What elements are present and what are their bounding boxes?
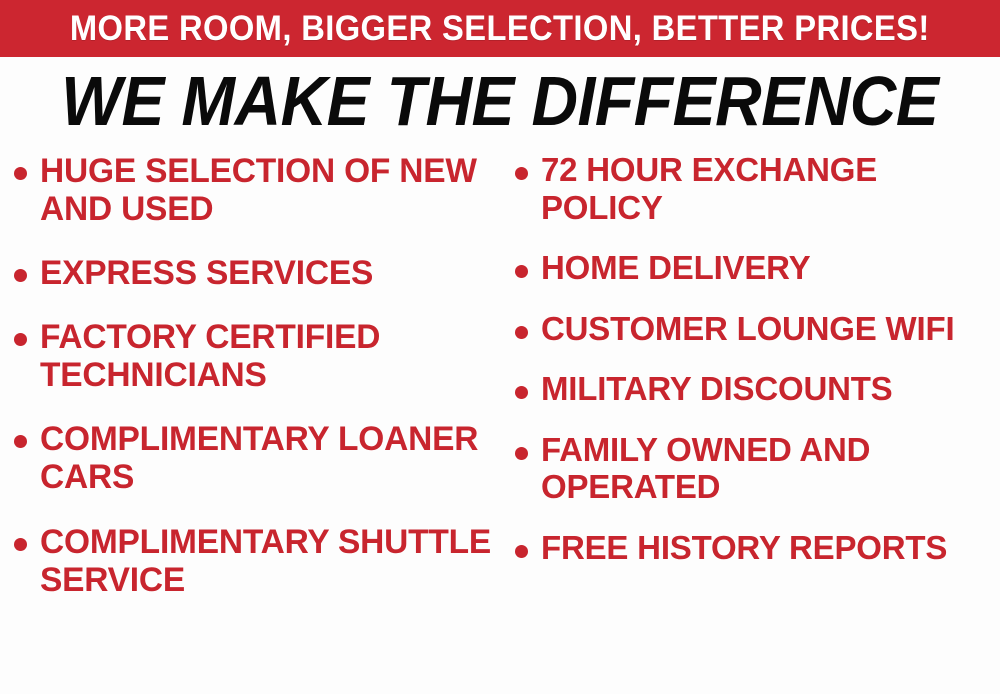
promo-banner: MORE ROOM, BIGGER SELECTION, BETTER PRIC…	[0, 0, 1000, 57]
advertisement-root: MORE ROOM, BIGGER SELECTION, BETTER PRIC…	[0, 0, 1000, 694]
list-item: HUGE SELECTION OF NEW AND USED	[14, 152, 501, 228]
list-item: COMPLIMENTARY SHUTTLE SERVICE	[14, 523, 501, 599]
list-item: HOME DELIVERY	[515, 250, 998, 288]
list-item-label: EXPRESS SERVICES	[40, 254, 494, 292]
bullet-dot-icon	[14, 435, 27, 448]
list-item: FAMILY OWNED AND OPERATED	[515, 432, 998, 507]
bullet-dot-icon	[14, 333, 27, 346]
page-title: WE MAKE THE DIFFERENCE	[61, 66, 938, 136]
bullet-dot-icon	[14, 269, 27, 282]
feature-columns: HUGE SELECTION OF NEW AND USED EXPRESS S…	[0, 152, 1000, 694]
bullet-dot-icon	[515, 167, 528, 180]
list-item-label: HOME DELIVERY	[541, 250, 991, 288]
list-item: MILITARY DISCOUNTS	[515, 371, 998, 409]
bullet-dot-icon	[515, 386, 528, 399]
list-item-label: FACTORY CERTIFIED TECHNICIANS	[40, 318, 494, 394]
list-item: 72 HOUR EXCHANGE POLICY	[515, 152, 998, 227]
list-item: COMPLIMENTARY LOANER CARS	[14, 420, 501, 496]
list-item-label: CUSTOMER LOUNGE WIFI	[541, 311, 991, 349]
list-item: CUSTOMER LOUNGE WIFI	[515, 311, 998, 349]
list-item-label: FREE HISTORY REPORTS	[541, 530, 991, 568]
headline-container: WE MAKE THE DIFFERENCE	[0, 64, 1000, 138]
feature-column-right: 72 HOUR EXCHANGE POLICY HOME DELIVERY CU…	[505, 152, 1000, 590]
list-item-label: COMPLIMENTARY LOANER CARS	[40, 420, 494, 496]
list-item: EXPRESS SERVICES	[14, 254, 501, 292]
list-item-label: 72 HOUR EXCHANGE POLICY	[541, 152, 991, 227]
feature-column-left: HUGE SELECTION OF NEW AND USED EXPRESS S…	[0, 152, 505, 625]
bullet-dot-icon	[14, 167, 27, 180]
bullet-dot-icon	[515, 545, 528, 558]
list-item-label: COMPLIMENTARY SHUTTLE SERVICE	[40, 523, 494, 599]
list-item: FACTORY CERTIFIED TECHNICIANS	[14, 318, 501, 394]
list-item: FREE HISTORY REPORTS	[515, 530, 998, 568]
list-item-label: MILITARY DISCOUNTS	[541, 371, 991, 409]
promo-banner-text: MORE ROOM, BIGGER SELECTION, BETTER PRIC…	[70, 11, 930, 46]
bullet-dot-icon	[515, 447, 528, 460]
list-item-label: HUGE SELECTION OF NEW AND USED	[40, 152, 494, 228]
list-item-label: FAMILY OWNED AND OPERATED	[541, 432, 991, 507]
bullet-dot-icon	[515, 265, 528, 278]
bullet-dot-icon	[14, 538, 27, 551]
bullet-dot-icon	[515, 326, 528, 339]
